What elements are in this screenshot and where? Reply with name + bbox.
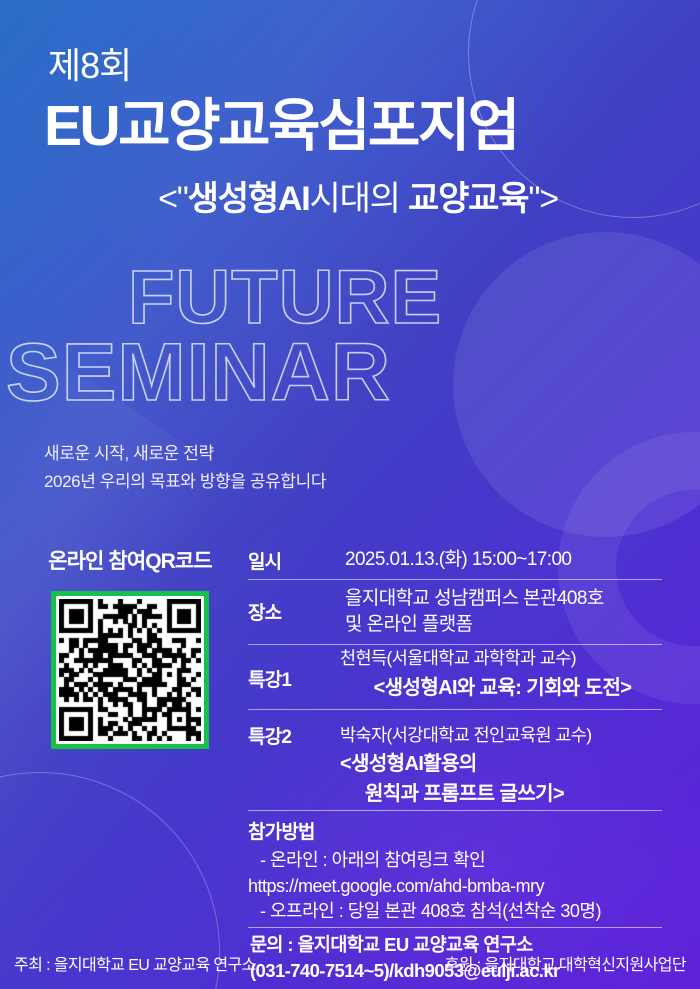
subtitle-open-bracket: <": [158, 180, 188, 218]
info-value-place-line1: 을지대학교 성남캠퍼스 본관408호: [345, 586, 670, 612]
hero-word-future: FUTURE: [0, 262, 700, 334]
info-label-date: 일시: [248, 547, 281, 574]
qr-code-image[interactable]: [59, 599, 201, 741]
qr-code-block: 온라인 참여QR코드: [20, 545, 240, 749]
info-value-date: 2025.01.13.(화) 15:00~17:00: [345, 547, 670, 573]
info-row-lecture2: 특강2 박숙자(서강대학교 전인교육원 교수) <생성형AI활용의 원칙과 프롬…: [240, 710, 670, 810]
footer-sponsor: 후원 : 을지대학교 대학혁신지원사업단: [445, 951, 686, 975]
event-info-table: 일시 2025.01.13.(화) 15:00~17:00 장소 을지대학교 성…: [240, 545, 670, 984]
info-value-lecture1-speaker: 천현득(서울대학교 과학학과 교수): [340, 647, 670, 671]
info-row-lecture1: 특강1 천현득(서울대학교 과학학과 교수) <생성형AI와 교육: 기회와 도…: [240, 645, 670, 709]
hero-outline-text: FUTURE SEMINAR: [0, 262, 700, 412]
info-value-lecture2-title-line1: <생성형AI활용의: [340, 748, 670, 778]
info-value-place-line2: 및 온라인 플랫폼: [345, 612, 670, 638]
footer-host: 주최 : 을지대학교 EU 교양교육 연구소: [14, 951, 256, 975]
info-label-lecture1: 특강1: [248, 665, 291, 692]
tagline-block: 새로운 시작, 새로운 전략 2026년 우리의 목표와 방향을 공유합니다: [44, 440, 326, 496]
info-label-place: 장소: [248, 598, 281, 625]
qr-code-label: 온라인 참여QR코드: [20, 545, 240, 575]
subtitle-emphasis-ai: 생성형AI: [188, 180, 310, 218]
participation-offline: - 오프라인 : 당일 본관 408호 참석(선착순 30명): [260, 899, 670, 925]
participation-online: - 온라인 : 아래의 참여링크 확인: [260, 848, 670, 874]
issue-number: 제8회: [48, 48, 131, 84]
info-value-lecture1-title: <생성형AI와 교육: 기회와 도전>: [335, 671, 670, 702]
tagline-line-2: 2026년 우리의 목표와 방향을 공유합니다: [44, 468, 326, 496]
info-value-lecture2-speaker: 박숙자(서강대학교 전인교육원 교수): [340, 714, 670, 748]
participation-meet-url[interactable]: https://meet.google.com/ahd-bmba-mry: [248, 874, 670, 900]
info-label-lecture2: 특강2: [248, 722, 291, 749]
participation-label: 참가방법: [248, 817, 670, 844]
subtitle-middle: 시대의: [310, 180, 409, 218]
info-row-place: 장소 을지대학교 성남캠퍼스 본관408호 및 온라인 플랫폼: [240, 580, 670, 644]
info-value-lecture2-title-line2: 원칙과 프롬프트 글쓰기>: [365, 778, 670, 808]
poster-subtitle: <"생성형AI시대의 교양교육">: [48, 180, 668, 219]
tagline-line-1: 새로운 시작, 새로운 전략: [44, 440, 326, 468]
info-row-date: 일시 2025.01.13.(화) 15:00~17:00: [240, 545, 670, 579]
subtitle-emphasis-liberal: 교양교육: [408, 180, 528, 218]
poster-footer: 주최 : 을지대학교 EU 교양교육 연구소 후원 : 을지대학교 대학혁신지원…: [0, 951, 700, 975]
poster-canvas: 제8회 EU교양교육심포지엄 <"생성형AI시대의 교양교육"> FUTURE …: [0, 0, 700, 989]
hero-word-seminar: SEMINAR: [0, 334, 700, 412]
participation-method-block: 참가방법 - 온라인 : 아래의 참여링크 확인 https://meet.go…: [240, 811, 670, 925]
page-title: EU교양교육심포지엄: [44, 96, 518, 158]
qr-code-frame[interactable]: [51, 591, 209, 749]
subtitle-close-bracket: ">: [528, 180, 558, 218]
